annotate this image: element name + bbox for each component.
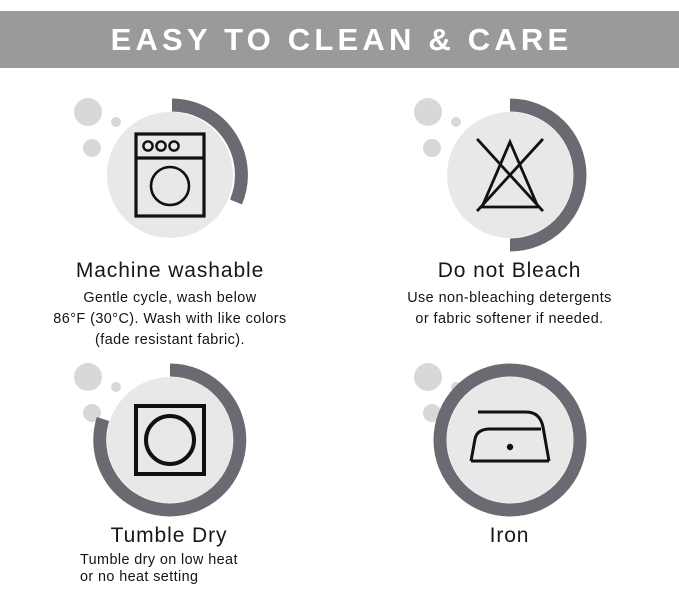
care-item-do-not-bleach: Do not Bleach Use non-bleaching detergen… (340, 90, 679, 370)
do-not-bleach-icon (410, 90, 610, 258)
care-description-line: Use non-bleaching detergents (352, 288, 667, 309)
bubble-large-icon (74, 363, 102, 391)
bubble-medium-icon (423, 139, 441, 157)
icon-disc (107, 377, 233, 503)
washing-machine-icon (70, 90, 270, 258)
bubble-large-icon (414, 363, 442, 391)
washing-machine-art (70, 90, 270, 258)
care-instructions-grid: Machine washable Gentle cycle, wash belo… (0, 68, 679, 593)
bubble-small-icon (111, 382, 121, 392)
page-title: EASY TO CLEAN & CARE (107, 24, 573, 55)
care-description-line: Tumble dry on low heat (80, 552, 328, 569)
header-banner: EASY TO CLEAN & CARE (0, 11, 679, 68)
care-description-line: or fabric softener if needed. (352, 309, 667, 330)
bubble-small-icon (111, 117, 121, 127)
icon-disc (107, 112, 233, 238)
care-description: Tumble dry on low heat or no heat settin… (80, 552, 328, 587)
care-item-tumble-dry: Tumble Dry Tumble dry on low heat or no … (0, 355, 340, 593)
tumble-dry-icon (70, 355, 270, 523)
tumble-dry-art (70, 355, 270, 523)
bubble-small-icon (451, 117, 461, 127)
bubble-medium-icon (83, 139, 101, 157)
do-not-bleach-art (410, 90, 610, 258)
care-text-tumble-dry: Tumble Dry Tumble dry on low heat or no … (0, 523, 340, 587)
care-description-line: 86°F (30°C). Wash with like colors (12, 309, 328, 330)
bubble-large-icon (414, 98, 442, 126)
care-description: Gentle cycle, wash below 86°F (30°C). Wa… (12, 288, 328, 351)
care-item-machine-washable: Machine washable Gentle cycle, wash belo… (0, 90, 340, 370)
care-text-do-not-bleach: Do not Bleach Use non-bleaching detergen… (340, 258, 679, 330)
care-title: Do not Bleach (352, 258, 667, 283)
care-title: Tumble Dry (80, 523, 328, 548)
care-item-iron: Iron (340, 355, 679, 593)
care-description-line: Gentle cycle, wash below (12, 288, 328, 309)
care-description-line: (fade resistant fabric). (12, 330, 328, 351)
care-description-line: or no heat setting (80, 569, 328, 586)
care-text-iron: Iron (340, 523, 679, 548)
iron-icon (410, 355, 610, 523)
care-title: Iron (352, 523, 667, 548)
iron-art (410, 355, 610, 523)
iron-dot-icon (506, 444, 512, 450)
care-text-machine-washable: Machine washable Gentle cycle, wash belo… (0, 258, 340, 351)
bubble-large-icon (74, 98, 102, 126)
care-description: Use non-bleaching detergents or fabric s… (352, 288, 667, 330)
icon-disc (447, 377, 573, 503)
care-title: Machine washable (12, 258, 328, 283)
